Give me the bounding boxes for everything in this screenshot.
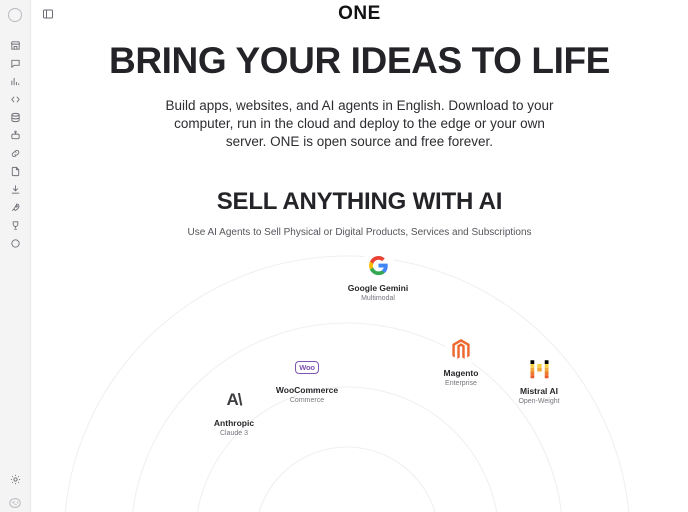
orbit-node-name: Anthropic: [188, 418, 280, 428]
orbit-node-tag: Open-Weight: [493, 398, 585, 406]
top-bar: ONE: [31, 0, 688, 28]
orbit-node-name: Mistral AI: [493, 386, 585, 396]
file-document-icon: [10, 166, 21, 177]
sidebar-collapse-button[interactable]: «⎵›: [9, 498, 21, 508]
sidebar-item-agents[interactable]: [3, 126, 27, 144]
anthropic-icon: A\: [221, 387, 247, 413]
building-store-icon: [10, 40, 21, 51]
orbit-node-tag: Claude 3: [188, 430, 280, 438]
magento-icon: [448, 337, 474, 363]
google-g-icon: [365, 252, 391, 278]
sidebar-item-documents[interactable]: [3, 162, 27, 180]
sidebar-item-deploy[interactable]: [3, 198, 27, 216]
sidebar-item-database[interactable]: [3, 108, 27, 126]
theme-toggle-button[interactable]: [3, 470, 27, 488]
download-icon: [10, 184, 21, 195]
circle-outline-icon: [10, 238, 21, 249]
chat-bubble-icon: [10, 58, 21, 69]
robot-icon: [10, 130, 21, 141]
sidebar-item-downloads[interactable]: [3, 180, 27, 198]
woocommerce-icon: Woo: [294, 354, 320, 380]
database-icon: [10, 112, 21, 123]
app-root: «⎵› ONE BRING YOUR IDEAS TO LIFE Build a…: [0, 0, 688, 512]
bar-chart-icon: [10, 76, 21, 87]
sidebar-item-analytics[interactable]: [3, 72, 27, 90]
orbit-node-anthropic[interactable]: A\ Anthropic Claude 3: [188, 387, 280, 438]
brand-logo: ONE: [31, 3, 688, 25]
orbit-node-name: Google Gemini: [332, 283, 424, 293]
orbit-diagram: Google Gemini Multimodal Woo WooCommerce…: [31, 252, 688, 512]
sidebar-item-store[interactable]: [3, 36, 27, 54]
sidebar-item-status[interactable]: [3, 234, 27, 252]
orbit-node-google-gemini[interactable]: Google Gemini Multimodal: [332, 252, 424, 303]
mistral-icon: [526, 355, 552, 381]
sun-icon: [10, 474, 21, 485]
code-brackets-icon: [10, 94, 21, 105]
hero-subtitle: Build apps, websites, and AI agents in E…: [155, 97, 565, 152]
sidebar-footer: «⎵›: [0, 470, 30, 508]
orbit-node-mistral-ai[interactable]: Mistral AI Open-Weight: [493, 355, 585, 406]
sidebar-collapse-label: «⎵›: [9, 498, 21, 508]
sell-section: SELL ANYTHING WITH AI Use AI Agents to S…: [31, 188, 688, 238]
section-title: SELL ANYTHING WITH AI: [31, 188, 688, 216]
section-subtitle: Use AI Agents to Sell Physical or Digita…: [31, 227, 688, 238]
trophy-icon: [10, 220, 21, 231]
rocket-icon: [10, 202, 21, 213]
sidebar-panel-toggle-icon[interactable]: [41, 7, 55, 21]
sidebar-nav: [3, 36, 27, 252]
sidebar-item-code[interactable]: [3, 90, 27, 108]
sidebar-item-chat[interactable]: [3, 54, 27, 72]
page-title: BRING YOUR IDEAS TO LIFE: [51, 42, 668, 79]
sidebar-item-links[interactable]: [3, 144, 27, 162]
orbit-node-tag: Multimodal: [332, 295, 424, 303]
sidebar: «⎵›: [0, 0, 31, 512]
circle-logo-icon[interactable]: [8, 8, 22, 22]
link-chain-icon: [10, 148, 21, 159]
sidebar-item-rewards[interactable]: [3, 216, 27, 234]
main-content: ONE BRING YOUR IDEAS TO LIFE Build apps,…: [31, 0, 688, 512]
hero-section: BRING YOUR IDEAS TO LIFE Build apps, web…: [31, 28, 688, 152]
